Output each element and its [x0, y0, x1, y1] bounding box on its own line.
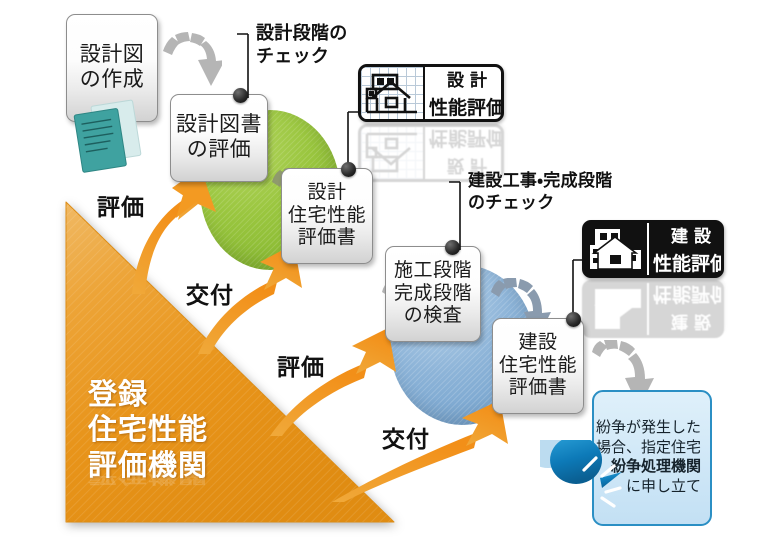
diagram-canvas: 登録 住宅性能 評価機関 評価機関 — [0, 0, 770, 538]
badge-construction-bottom: 性能評価 — [653, 249, 724, 276]
box-design-perf-report-line-1: 設計 — [307, 182, 346, 204]
box-design-drawing-line-2: の作成 — [80, 68, 145, 93]
badge-construction-top-reflection: 建設 — [665, 311, 717, 336]
knob-design-perf-report — [341, 162, 356, 177]
knob-design-doc-eval — [233, 88, 248, 103]
callout-construction-stage-check: 建設工事・完成段階 のチェック — [468, 170, 612, 214]
box-design-perf-report-line-3: 評価書 — [298, 227, 357, 249]
box-construction-perf-report-line-3: 評価書 — [509, 377, 568, 399]
dispute-note-line-1: 紛争が発生した — [596, 418, 701, 438]
badge-construction-text: 建設 性能評価 — [649, 223, 724, 275]
box-design-perf-report[interactable]: 設計 住宅性能 評価書 — [281, 168, 373, 264]
leader-design-mark — [338, 108, 360, 170]
badge-design-bottom-reflection: 性能評価 — [429, 126, 504, 153]
flow-label-eval-design: 評価 — [97, 188, 145, 222]
box-construction-inspection-line-1: 施工段階 — [394, 260, 472, 282]
callout-design-line-1: 設計段階の — [256, 22, 348, 45]
box-design-doc-eval[interactable]: 設計図書 の評価 — [170, 94, 268, 182]
triangle-label-reflection: 評価機関 — [88, 467, 208, 490]
triangle-line-2: 住宅性能 — [88, 413, 208, 448]
blueprint-document-icon — [66, 96, 152, 180]
box-design-doc-eval-line-1: 設計図書 — [176, 113, 262, 138]
box-construction-perf-report-line-1: 建設 — [518, 332, 557, 354]
badge-construction-top: 建設 — [665, 222, 717, 247]
box-construction-inspection-line-3: の検査 — [404, 305, 463, 327]
motion-arrow-1 — [158, 32, 222, 98]
box-design-drawing-line-1: 設計図 — [80, 43, 145, 68]
box-construction-inspection-line-2: 完成段階 — [394, 283, 472, 305]
badge-design-top: 設計 — [441, 66, 493, 91]
triangle-line-1: 登録 — [88, 378, 208, 413]
knob-construction-inspection — [445, 240, 460, 255]
flow-label-eval-construction: 評価 — [277, 348, 325, 382]
badge-construction-bottom-reflection: 性能評価 — [653, 282, 724, 309]
dispute-speech-bubbles-icon — [540, 440, 650, 532]
badge-construction-mark: 建設 性能評価 — [582, 220, 724, 278]
house-building-icon-reflection — [585, 283, 649, 335]
knob-construction-perf-report — [566, 312, 581, 327]
flow-label-issue-construction: 交付 — [382, 420, 430, 454]
badge-construction-mark-reflection: 建設 性能評価 — [582, 280, 724, 338]
callout-design-stage-check: 設計段階の チェック — [256, 22, 348, 68]
badge-construction-text-reflection: 建設 性能評価 — [649, 283, 724, 335]
badge-design-text: 設計 性能評価 — [425, 67, 504, 119]
house-building-icon — [585, 223, 649, 275]
box-construction-perf-report[interactable]: 建設 住宅性能 評価書 — [492, 318, 584, 414]
callout-construction-line-2: のチェック — [468, 192, 612, 214]
flow-label-issue-design: 交付 — [186, 276, 234, 310]
badge-design-bottom: 性能評価 — [429, 93, 504, 120]
box-construction-perf-report-line-2: 住宅性能 — [499, 355, 577, 377]
box-design-doc-eval-line-2: の評価 — [187, 138, 252, 163]
house-blueprint-icon — [361, 67, 425, 119]
badge-design-mark: 設計 性能評価 — [358, 64, 504, 122]
box-construction-inspection[interactable]: 施工段階 完成段階 の検査 — [385, 246, 481, 342]
box-design-perf-report-line-2: 住宅性能 — [288, 205, 366, 227]
callout-design-line-2: チェック — [256, 45, 348, 68]
flow-arrow-issue-construction — [330, 398, 530, 506]
callout-construction-line-1: 建設工事・完成段階 — [468, 170, 612, 192]
